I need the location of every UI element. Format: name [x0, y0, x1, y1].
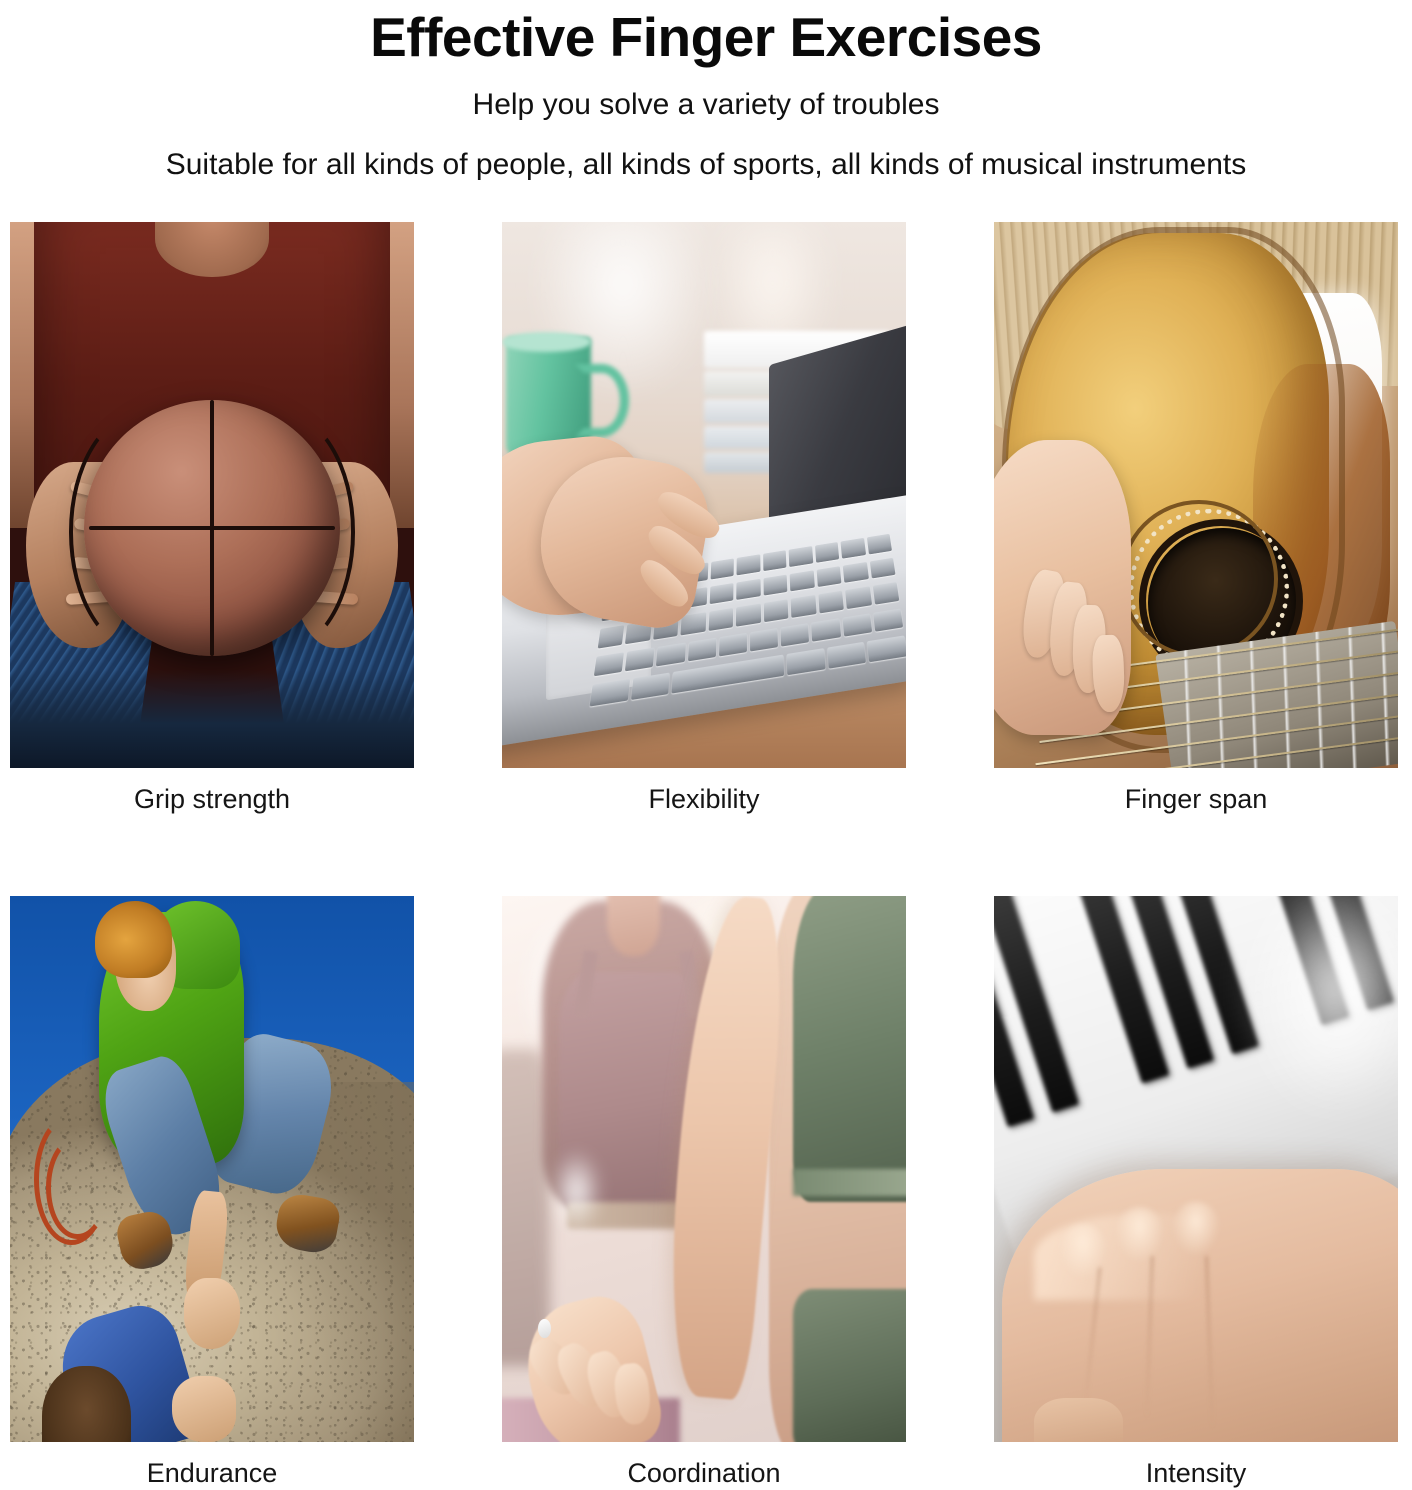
key [763, 550, 787, 571]
key [719, 632, 747, 656]
key [827, 641, 866, 668]
feature-cell-flexibility: Flexibility [502, 222, 906, 816]
photo-flexibility [502, 222, 906, 768]
sage-sports-bra [793, 896, 906, 1202]
reaching-hand-upper [184, 1278, 241, 1349]
key [815, 542, 840, 563]
feature-cell-endurance: Endurance [10, 896, 414, 1490]
guitar-rosette-outer [1120, 500, 1278, 658]
key [873, 608, 903, 632]
caption-endurance: Endurance [10, 1442, 414, 1490]
key [598, 625, 625, 648]
key [790, 570, 815, 592]
caption-intensity: Intensity [994, 1442, 1398, 1490]
key [843, 561, 869, 582]
key [811, 617, 840, 641]
curly-hair [95, 901, 172, 977]
mug-handle [575, 364, 629, 437]
feature-grid: Grip strength [10, 222, 1402, 1490]
highlight-glow [1244, 896, 1398, 1114]
key [816, 565, 841, 586]
knuckle [1115, 1207, 1163, 1262]
key [787, 648, 825, 675]
subtitle-primary: Help you solve a variety of troubles [0, 70, 1412, 128]
key [594, 651, 624, 676]
key [867, 635, 906, 661]
key [866, 533, 892, 553]
key [791, 595, 816, 618]
climbing-rope [46, 1136, 109, 1239]
pressing-finger [1034, 1398, 1123, 1442]
basketball-seam [69, 410, 220, 654]
key [845, 586, 871, 608]
key [625, 647, 655, 672]
subtitle-secondary: Suitable for all kinds of people, all ki… [0, 128, 1412, 188]
photo-intensity [994, 896, 1398, 1442]
woman-neck [607, 896, 660, 956]
infographic-header: Effective Finger Exercises Help you solv… [0, 0, 1412, 188]
player-shorts-bottom [10, 670, 414, 768]
key [688, 637, 717, 661]
key [872, 582, 899, 604]
key [818, 590, 844, 612]
feature-cell-intensity: Intensity [994, 896, 1398, 1490]
finger [1091, 634, 1124, 712]
key [737, 554, 760, 575]
sports-bra-hem [793, 1169, 906, 1196]
key [708, 608, 733, 631]
key [709, 582, 733, 604]
caption-finger-span: Finger span [994, 768, 1398, 816]
key [869, 557, 895, 578]
key [656, 642, 685, 666]
feature-cell-grip-strength: Grip strength [10, 222, 414, 816]
reaching-hand-lower [172, 1376, 237, 1442]
key [710, 558, 734, 579]
key [842, 613, 872, 637]
photo-coordination [502, 896, 906, 1442]
strumming-hand [994, 440, 1131, 735]
key [789, 546, 813, 567]
key [736, 603, 761, 626]
page-title: Effective Finger Exercises [0, 4, 1412, 70]
caption-grip-strength: Grip strength [10, 768, 414, 816]
mug-rim [502, 332, 591, 352]
key [840, 537, 865, 557]
caption-coordination: Coordination [502, 1442, 906, 1490]
key [781, 622, 810, 646]
key [764, 599, 789, 622]
photo-finger-span [994, 222, 1398, 768]
key [763, 574, 787, 596]
photo-grip-strength [10, 222, 414, 768]
caption-flexibility: Flexibility [502, 768, 906, 816]
key [736, 578, 760, 600]
key [590, 679, 630, 706]
key [750, 627, 778, 651]
feature-cell-finger-span: Finger span [994, 222, 1398, 816]
window-glow [550, 1147, 603, 1234]
finger [613, 1362, 653, 1426]
feature-cell-coordination: Coordination [502, 896, 906, 1490]
photo-endurance [10, 896, 414, 1442]
key [630, 672, 669, 699]
sage-leggings [793, 1289, 906, 1442]
basketball [84, 400, 340, 656]
basketball-seam [204, 410, 355, 654]
